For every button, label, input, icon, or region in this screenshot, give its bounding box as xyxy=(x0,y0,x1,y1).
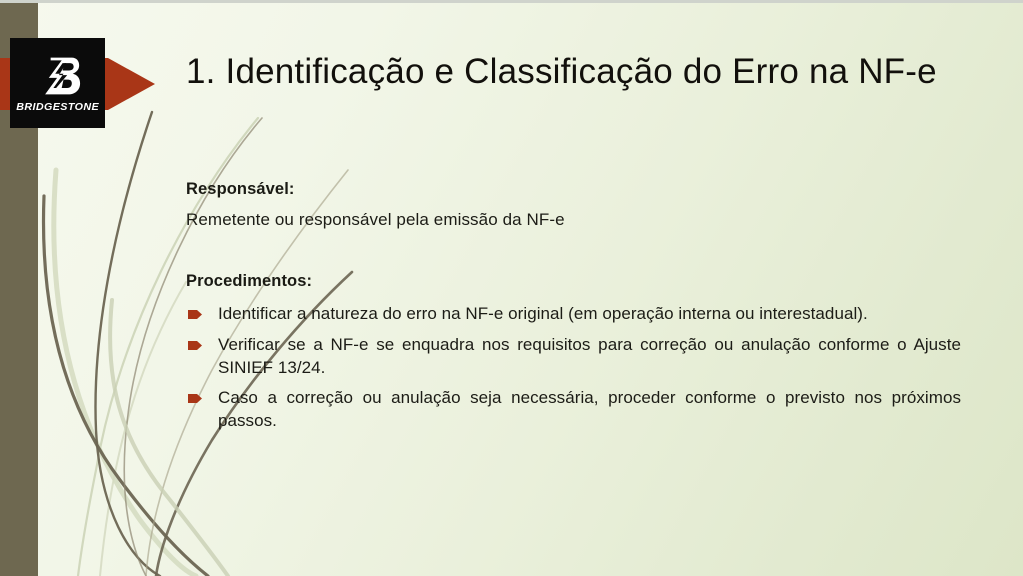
slide-body: Responsável: Remetente ou responsável pe… xyxy=(186,180,961,433)
bridgestone-logo: BRIDGESTONE xyxy=(10,38,105,128)
bridgestone-b-mark-icon xyxy=(35,53,81,99)
slide-title: 1. Identificação e Classificação do Erro… xyxy=(186,52,996,92)
section-responsavel-text: Remetente ou responsável pela emissão da… xyxy=(186,210,961,230)
arrow-bullet-icon xyxy=(188,310,202,319)
section-procedimentos-heading: Procedimentos: xyxy=(186,272,961,291)
section-responsavel: Responsável: Remetente ou responsável pe… xyxy=(186,180,961,230)
list-item: Identificar a natureza do erro na NF-e o… xyxy=(186,303,961,326)
list-item-text: Caso a correção ou anulação seja necessá… xyxy=(218,387,961,433)
bridgestone-wordmark: BRIDGESTONE xyxy=(16,101,99,113)
list-item-text: Verificar se a NF-e se enquadra nos requ… xyxy=(218,334,961,380)
procedimentos-bullet-list: Identificar a natureza do erro na NF-e o… xyxy=(186,303,961,433)
list-item-text: Identificar a natureza do erro na NF-e o… xyxy=(218,303,961,326)
arrow-bullet-icon xyxy=(188,394,202,403)
top-edge-hairline xyxy=(0,0,1023,3)
arrow-bullet-icon xyxy=(188,341,202,350)
list-item: Verificar se a NF-e se enquadra nos requ… xyxy=(186,334,961,380)
list-item: Caso a correção ou anulação seja necessá… xyxy=(186,387,961,433)
presentation-slide: BRIDGESTONE 1. Identificação e Classific… xyxy=(0,0,1023,576)
section-spacer xyxy=(186,230,961,272)
section-responsavel-heading: Responsável: xyxy=(186,180,961,199)
section-procedimentos: Procedimentos: Identificar a natureza do… xyxy=(186,272,961,433)
